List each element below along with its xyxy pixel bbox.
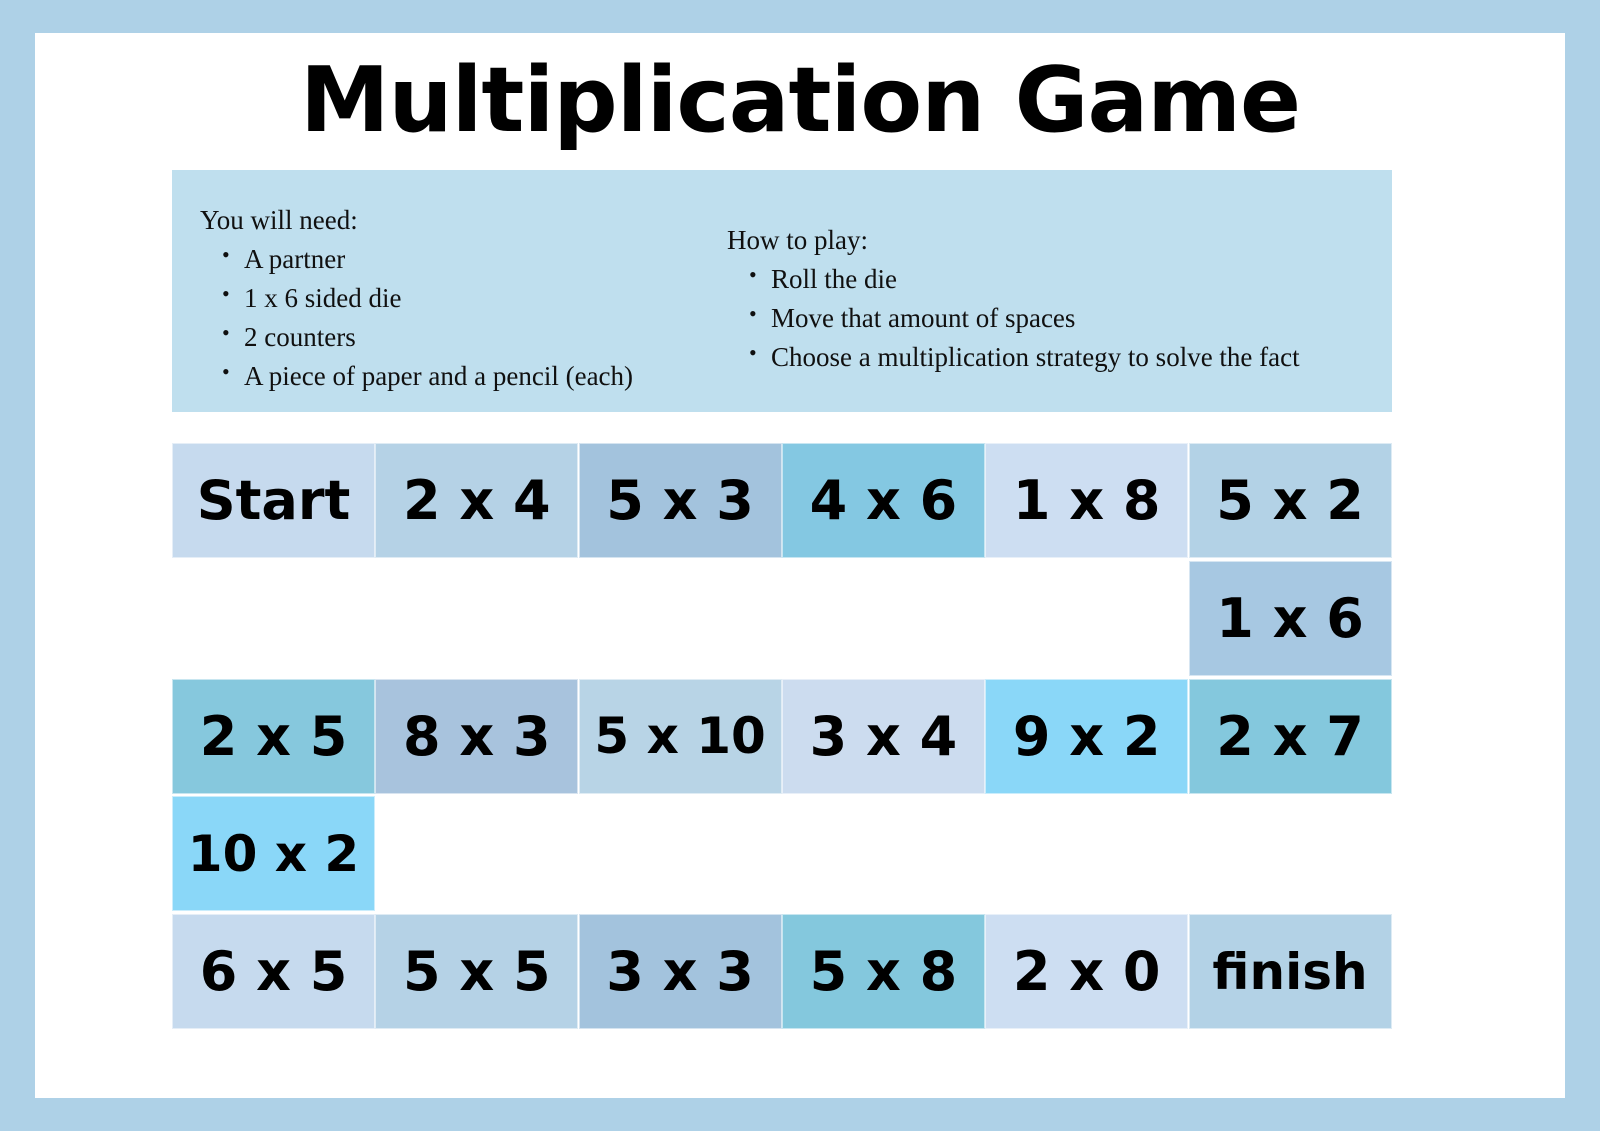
board-cell[interactable]: 5 x 10	[579, 679, 782, 794]
board-cell[interactable]: 3 x 4	[782, 679, 985, 794]
worksheet-page: Multiplication Game You will need: A par…	[35, 33, 1565, 1098]
board-cell[interactable]: 9 x 2	[985, 679, 1188, 794]
board-cell[interactable]: 1 x 8	[985, 443, 1188, 558]
list-item: 2 counters	[244, 318, 717, 357]
board-cell[interactable]: 2 x 7	[1189, 679, 1392, 794]
list-item: A piece of paper and a pencil (each)	[244, 357, 717, 396]
you-will-need-list: A partner 1 x 6 sided die 2 counters A p…	[200, 240, 717, 397]
how-to-play-list: Roll the die Move that amount of spaces …	[727, 260, 1392, 377]
board-cell[interactable]: 5 x 8	[782, 914, 985, 1029]
game-board: Start2 x 45 x 34 x 61 x 85 x 21 x 62 x 5…	[172, 443, 1392, 1032]
board-cell[interactable]: 2 x 4	[375, 443, 578, 558]
board-cell[interactable]: 5 x 3	[579, 443, 782, 558]
how-to-play-column: How to play: Roll the die Move that amou…	[717, 170, 1392, 377]
board-cell[interactable]: 5 x 5	[375, 914, 578, 1029]
board-cell[interactable]: 10 x 2	[172, 796, 375, 911]
board-cell[interactable]: Start	[172, 443, 375, 558]
list-item: Roll the die	[771, 260, 1392, 299]
list-item: Choose a multiplication strategy to solv…	[771, 338, 1392, 377]
board-cell[interactable]: 5 x 2	[1189, 443, 1392, 558]
board-cell[interactable]: 4 x 6	[782, 443, 985, 558]
board-cell[interactable]: 1 x 6	[1189, 561, 1392, 676]
list-item: A partner	[244, 240, 717, 279]
list-item: Move that amount of spaces	[771, 299, 1392, 338]
list-item: 1 x 6 sided die	[244, 279, 717, 318]
board-cell[interactable]: 8 x 3	[375, 679, 578, 794]
board-cell[interactable]: finish	[1189, 914, 1392, 1029]
board-cell[interactable]: 2 x 0	[985, 914, 1188, 1029]
board-cell[interactable]: 6 x 5	[172, 914, 375, 1029]
you-will-need-column: You will need: A partner 1 x 6 sided die…	[172, 170, 717, 396]
board-cell[interactable]: 3 x 3	[579, 914, 782, 1029]
page-title: Multiplication Game	[35, 56, 1565, 146]
board-cell[interactable]: 2 x 5	[172, 679, 375, 794]
instructions-panel: You will need: A partner 1 x 6 sided die…	[172, 170, 1392, 412]
you-will-need-heading: You will need:	[200, 203, 717, 238]
how-to-play-heading: How to play:	[727, 223, 1392, 258]
